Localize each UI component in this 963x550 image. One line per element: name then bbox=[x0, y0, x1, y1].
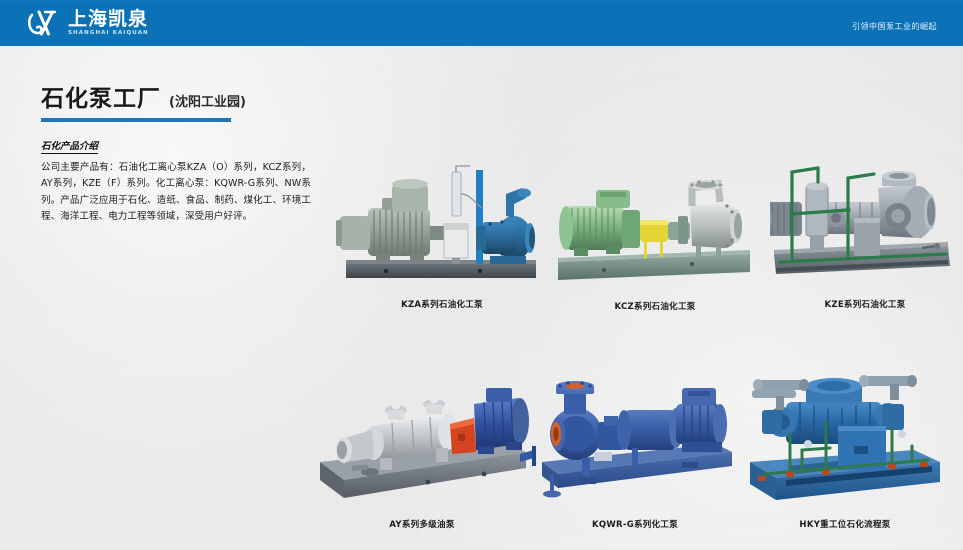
title-underline bbox=[41, 118, 231, 122]
product-kcz[interactable]: KCZ系列石油化工泵 bbox=[552, 176, 758, 312]
product-kza-image: KZA系列石油化工泵 bbox=[330, 164, 554, 312]
product-kze-caption: KZE系列石油化工泵 bbox=[770, 298, 960, 310]
product-kqwr-g-image: KQWR-G系列化工泵 bbox=[532, 378, 738, 532]
product-hky[interactable]: HKY重工位石化流程泵 bbox=[742, 358, 948, 532]
product-kze-image: KZE系列石油化工泵 bbox=[770, 162, 960, 312]
brand-name-en: SHANGHAI KAIQUAN bbox=[68, 31, 149, 37]
product-kza-caption: KZA系列石油化工泵 bbox=[330, 298, 554, 310]
product-kcz-image: KCZ系列石油化工泵 bbox=[552, 176, 758, 312]
kaiquan-logo-icon bbox=[28, 9, 62, 37]
product-kza[interactable]: KZA系列石油化工泵 bbox=[330, 164, 554, 312]
product-hky-image: HKY重工位石化流程泵 bbox=[742, 358, 948, 532]
page-subtitle: (沈阳工业园) bbox=[169, 96, 246, 111]
intro-body: 公司主要产品有：石油化工离心泵KZA（O）系列，KCZ系列，AY系列，KZE（F… bbox=[41, 160, 311, 225]
product-ay-image: AY系列多级油泵 bbox=[308, 376, 536, 532]
product-hky-caption: HKY重工位石化流程泵 bbox=[742, 518, 948, 530]
content-area: 石化泵工厂 (沈阳工业园) 石化产品介绍 公司主要产品有：石油化工离心泵KZA（… bbox=[0, 46, 963, 550]
page-title-row: 石化泵工厂 (沈阳工业园) bbox=[41, 88, 341, 111]
product-kqwr-g-caption: KQWR-G系列化工泵 bbox=[532, 518, 738, 530]
slide-page: 上海凯泉 SHANGHAI KAIQUAN 引领中国泵工业的崛起 石化泵工厂 (… bbox=[0, 0, 963, 550]
product-ay-caption: AY系列多级油泵 bbox=[308, 518, 536, 530]
intro-heading: 石化产品介绍 bbox=[41, 138, 98, 154]
page-title-block: 石化泵工厂 (沈阳工业园) bbox=[41, 88, 341, 122]
intro-block: 石化产品介绍 公司主要产品有：石油化工离心泵KZA（O）系列，KCZ系列，AY系… bbox=[41, 134, 311, 225]
brand-logo[interactable]: 上海凯泉 SHANGHAI KAIQUAN bbox=[28, 8, 149, 38]
brand-name-cn: 上海凯泉 bbox=[68, 10, 149, 29]
brand-logo-text: 上海凯泉 SHANGHAI KAIQUAN bbox=[68, 10, 149, 37]
header-bar: 上海凯泉 SHANGHAI KAIQUAN 引领中国泵工业的崛起 bbox=[0, 0, 963, 46]
product-ay[interactable]: AY系列多级油泵 bbox=[308, 376, 536, 532]
product-kqwr-g[interactable]: KQWR-G系列化工泵 bbox=[532, 378, 738, 532]
product-kcz-caption: KCZ系列石油化工泵 bbox=[552, 300, 758, 312]
product-kze[interactable]: KZE系列石油化工泵 bbox=[770, 162, 960, 312]
page-title: 石化泵工厂 bbox=[41, 88, 161, 111]
header-slogan: 引领中国泵工业的崛起 bbox=[852, 21, 937, 32]
